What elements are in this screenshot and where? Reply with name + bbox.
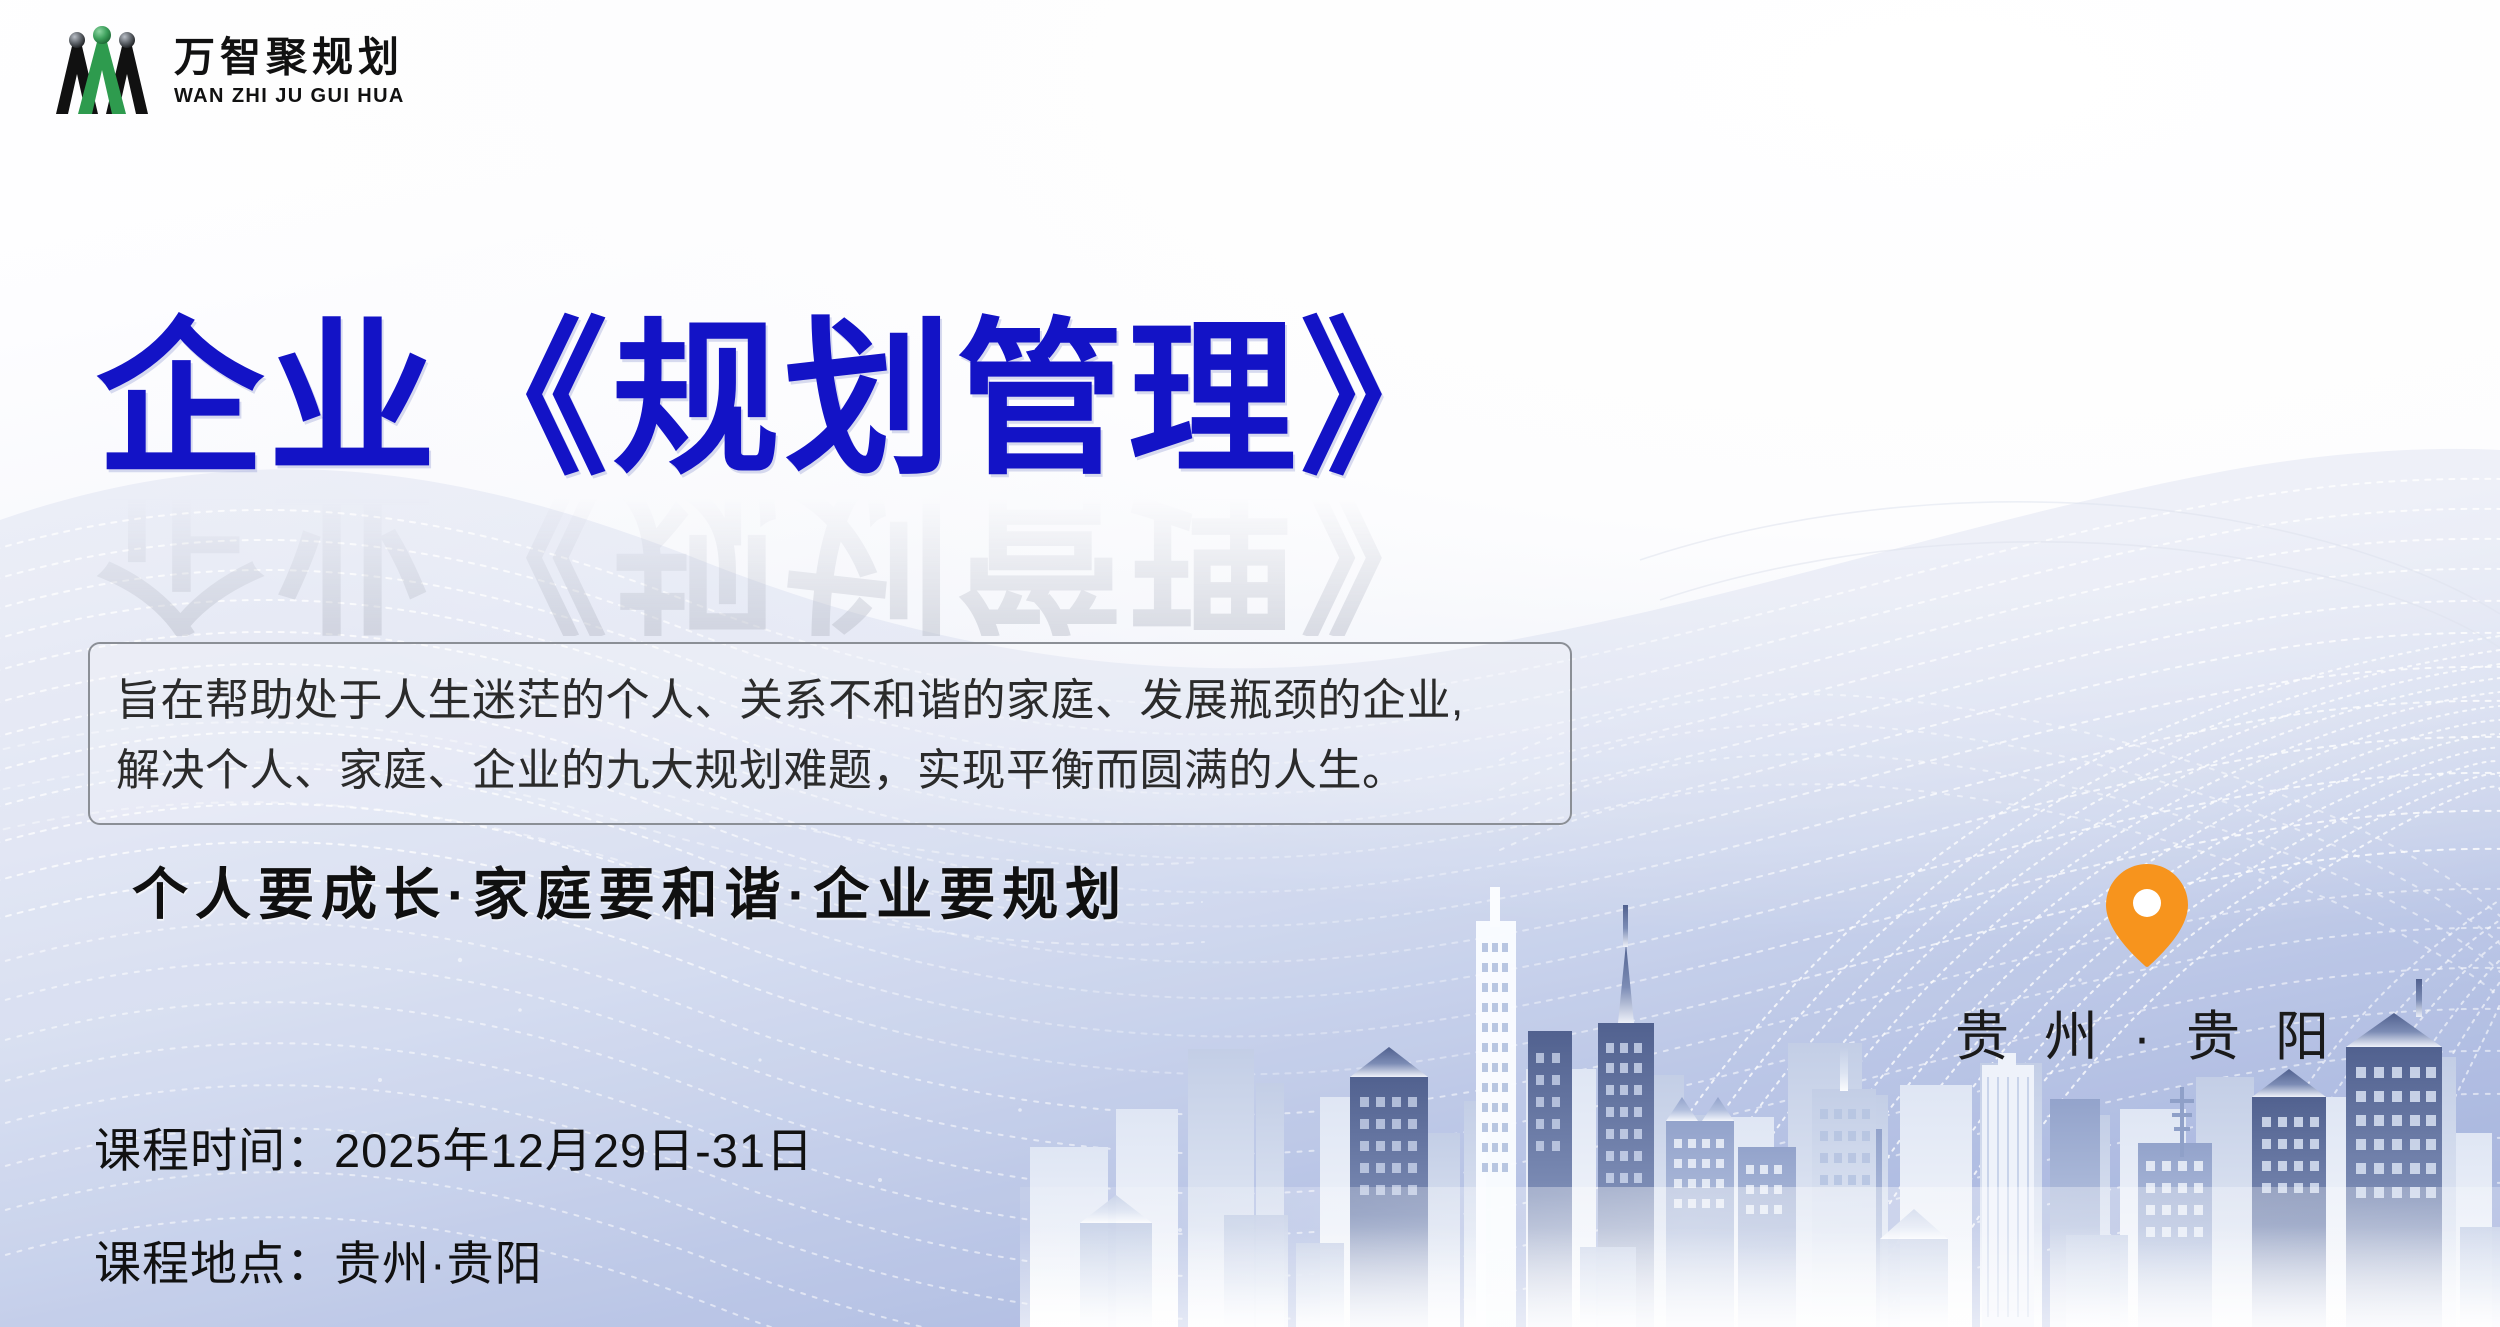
title-reflection: 企业《规划管理》 — [96, 486, 1472, 636]
location-badge: 贵 州 · 贵 阳 — [1955, 860, 2339, 1071]
poster-canvas: 万智聚规划 WAN ZHI JU GUI HUA 企业《规划管理》 企业《规划管… — [0, 0, 2500, 1327]
course-time-row: 课程时间：2025年12月29日-31日 — [94, 1112, 814, 1181]
map-pin-icon — [2101, 860, 2193, 970]
description-line-2: 解决个人、家庭、企业的九大规划难题，实现平衡而圆满的人生。 — [116, 736, 1544, 806]
brand-name-en: WAN ZHI JU GUI HUA — [174, 86, 405, 106]
brand-logo[interactable]: 万智聚规划 WAN ZHI JU GUI HUA — [48, 24, 405, 116]
brand-name-cn: 万智聚规划 — [174, 37, 405, 78]
course-info: 课程时间：2025年12月29日-31日 课程地点：贵州·贵阳 — [94, 1112, 814, 1294]
three-people-logo-icon — [48, 24, 156, 116]
page-title: 企业《规划管理》 企业《规划管理》 — [96, 316, 1472, 636]
title-text: 企业《规划管理》 — [96, 316, 1472, 484]
description-line-1: 旨在帮助处于人生迷茫的个人、关系不和谐的家庭、发展瓶颈的企业, — [116, 666, 1544, 736]
location-text: 贵 州 · 贵 阳 — [1955, 992, 2339, 1071]
tagline: 个人要成长·家庭要和谐·企业要规划 — [132, 850, 1128, 931]
course-place-row: 课程地点：贵州·贵阳 — [94, 1225, 814, 1294]
description-box: 旨在帮助处于人生迷茫的个人、关系不和谐的家庭、发展瓶颈的企业, 解决个人、家庭、… — [88, 642, 1572, 825]
